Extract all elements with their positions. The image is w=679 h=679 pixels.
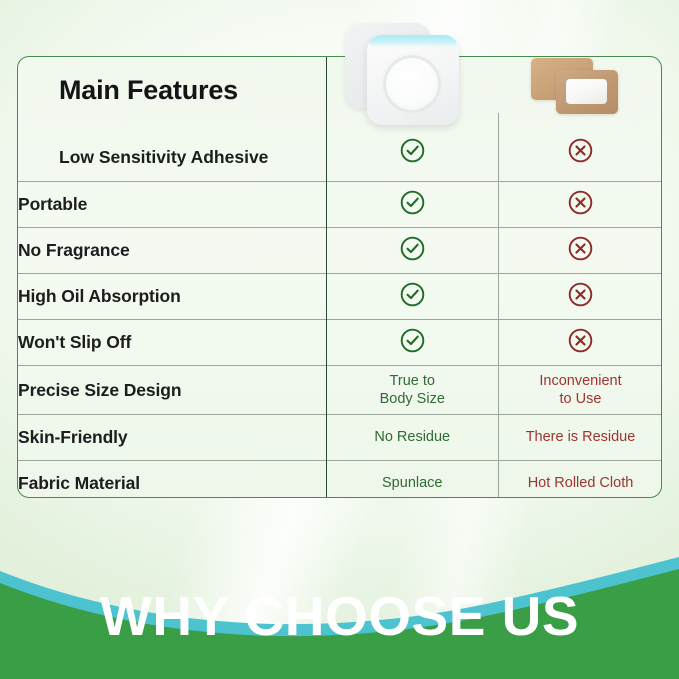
theirs-cell-precise-size-design: Inconvenient to Use (498, 366, 662, 415)
feature-label-fabric-material: Fabric Material (18, 461, 326, 499)
ours-value-line2: Body Size (327, 390, 499, 408)
feature-label-wont-slip-off: Won't Slip Off (18, 320, 326, 366)
ours-value-text: Spunlace (327, 474, 499, 492)
table-header-row: Main Features Low Sensitivity Adhesive (18, 57, 662, 182)
cross-icon (567, 235, 594, 267)
theirs-value-line2: to Use (498, 390, 662, 408)
ours-cell-skin-friendly: No Residue (326, 415, 498, 461)
cross-icon (567, 189, 594, 221)
infographic-page: Main Features Low Sensitivity Adhesive (0, 0, 679, 679)
comparison-table-wrapper: Main Features Low Sensitivity Adhesive (17, 56, 662, 498)
theirs-cell-portable (498, 182, 662, 228)
theirs-cell-wont-slip-off (498, 320, 662, 366)
table-row: Skin-Friendly No Residue There is Residu… (18, 415, 662, 461)
theirs-value-text: There is Residue (498, 428, 662, 446)
theirs-value-line1: Inconvenient (498, 372, 662, 390)
check-icon (399, 235, 426, 267)
feature-label-high-oil-absorption: High Oil Absorption (18, 274, 326, 320)
theirs-cell-low-sensitivity-adhesive (498, 57, 662, 182)
page-title: Main Features (59, 76, 238, 104)
check-icon (399, 327, 426, 359)
check-icon (399, 189, 426, 221)
feature-label-skin-friendly: Skin-Friendly (18, 415, 326, 461)
cross-icon (567, 327, 594, 359)
theirs-cell-no-fragrance (498, 228, 662, 274)
cross-icon (567, 281, 594, 313)
feature-label-low-sensitivity-adhesive: Low Sensitivity Adhesive (59, 147, 268, 168)
comparison-table-card: Main Features Low Sensitivity Adhesive (17, 56, 662, 498)
check-icon (399, 281, 426, 313)
table-row: Won't Slip Off (18, 320, 662, 366)
why-choose-us-banner: WHY CHOOSE US (0, 519, 679, 679)
ours-cell-portable (326, 182, 498, 228)
ours-cell-no-fragrance (326, 228, 498, 274)
ours-value-text: No Residue (327, 428, 499, 446)
ours-cell-high-oil-absorption (326, 274, 498, 320)
check-icon (399, 137, 426, 169)
table-row: No Fragrance (18, 228, 662, 274)
theirs-cell-fabric-material: Hot Rolled Cloth (498, 461, 662, 499)
ours-cell-precise-size-design: True to Body Size (326, 366, 498, 415)
cross-icon (567, 137, 594, 169)
feature-label-portable: Portable (18, 182, 326, 228)
feature-label-precise-size-design: Precise Size Design (18, 366, 326, 415)
table-row: Fabric Material Spunlace Hot Rolled Clot… (18, 461, 662, 499)
ours-cell-fabric-material: Spunlace (326, 461, 498, 499)
ours-cell-low-sensitivity-adhesive (326, 57, 498, 182)
ours-value-text: True to Body Size (327, 372, 499, 408)
ours-value-line1: True to (327, 372, 499, 390)
feature-label-no-fragrance: No Fragrance (18, 228, 326, 274)
comparison-table: Main Features Low Sensitivity Adhesive (18, 57, 662, 498)
banner-title: WHY CHOOSE US (0, 589, 679, 644)
table-row: Portable (18, 182, 662, 228)
header-feature-cell: Main Features Low Sensitivity Adhesive (18, 57, 326, 182)
theirs-value-text: Hot Rolled Cloth (498, 474, 662, 492)
theirs-value-text: Inconvenient to Use (498, 372, 662, 408)
theirs-cell-high-oil-absorption (498, 274, 662, 320)
ours-cell-wont-slip-off (326, 320, 498, 366)
theirs-cell-skin-friendly: There is Residue (498, 415, 662, 461)
table-row: Precise Size Design True to Body Size In… (18, 366, 662, 415)
table-row: High Oil Absorption (18, 274, 662, 320)
